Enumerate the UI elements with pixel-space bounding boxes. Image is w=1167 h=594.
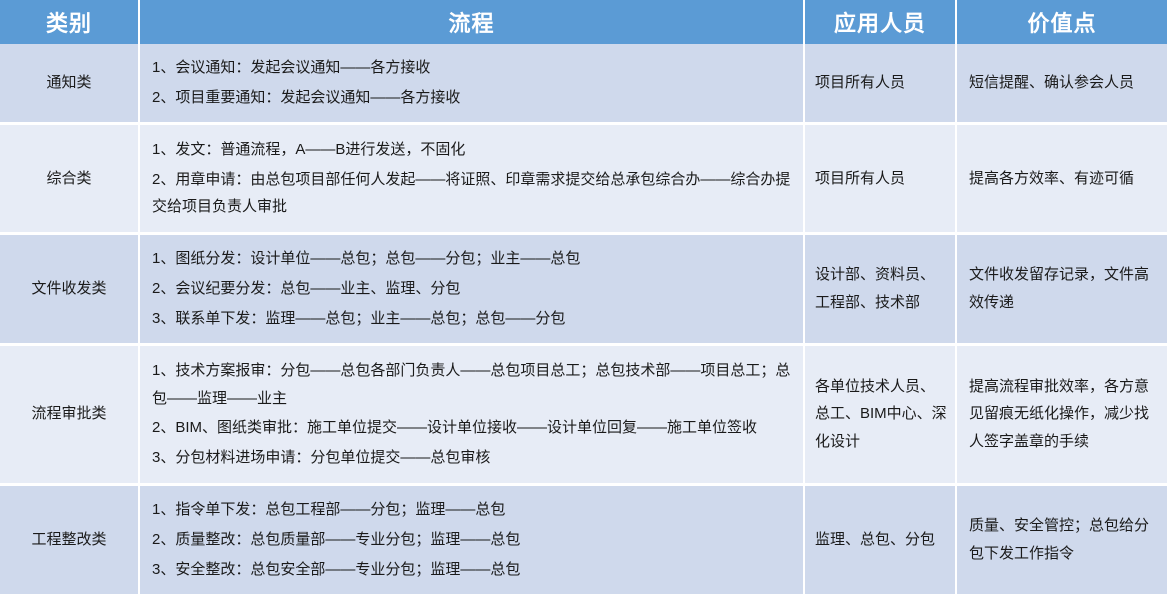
process-step: 1、会议通知：发起会议通知——各方接收 (152, 54, 791, 82)
column-header-category: 类别 (0, 0, 140, 44)
cell-category: 综合类 (0, 125, 140, 234)
table-row: 文件收发类1、图纸分发：设计单位——总包；总包——分包；业主——总包2、会议纪要… (0, 235, 1167, 346)
process-step: 1、指令单下发：总包工程部——分包；监理——总包 (152, 496, 791, 524)
process-step: 2、用章申请：由总包项目部任何人发起——将证照、印章需求提交给总承包综合办——综… (152, 166, 791, 222)
table-body: 通知类1、会议通知：发起会议通知——各方接收2、项目重要通知：发起会议通知——各… (0, 44, 1167, 594)
cell-process: 1、技术方案报审：分包——总包各部门负责人——总包项目总工；总包技术部——项目总… (140, 346, 805, 485)
process-step: 1、图纸分发：设计单位——总包；总包——分包；业主——总包 (152, 245, 791, 273)
cell-value: 文件收发留存记录，文件高效传递 (957, 235, 1167, 346)
cell-value: 提高流程审批效率，各方意见留痕无纸化操作，减少找人签字盖章的手续 (957, 346, 1167, 485)
cell-people: 各单位技术人员、总工、BIM中心、深化设计 (805, 346, 957, 485)
cell-category: 工程整改类 (0, 486, 140, 594)
process-step: 2、会议纪要分发：总包——业主、监理、分包 (152, 275, 791, 303)
cell-value: 短信提醒、确认参会人员 (957, 44, 1167, 125)
cell-process: 1、指令单下发：总包工程部——分包；监理——总包2、质量整改：总包质量部——专业… (140, 486, 805, 594)
cell-people: 项目所有人员 (805, 44, 957, 125)
cell-category: 文件收发类 (0, 235, 140, 346)
header-row: 类别 流程 应用人员 价值点 (0, 0, 1167, 44)
table-header: 类别 流程 应用人员 价值点 (0, 0, 1167, 44)
process-step: 3、安全整改：总包安全部——专业分包；监理——总包 (152, 556, 791, 584)
table-row: 通知类1、会议通知：发起会议通知——各方接收2、项目重要通知：发起会议通知——各… (0, 44, 1167, 125)
cell-people: 监理、总包、分包 (805, 486, 957, 594)
cell-value: 提高各方效率、有迹可循 (957, 125, 1167, 234)
column-header-value: 价值点 (957, 0, 1167, 44)
process-step: 3、联系单下发：监理——总包；业主——总包；总包——分包 (152, 305, 791, 333)
table-row: 工程整改类1、指令单下发：总包工程部——分包；监理——总包2、质量整改：总包质量… (0, 486, 1167, 594)
cell-process: 1、会议通知：发起会议通知——各方接收2、项目重要通知：发起会议通知——各方接收 (140, 44, 805, 125)
cell-category: 流程审批类 (0, 346, 140, 485)
process-matrix-container: 类别 流程 应用人员 价值点 通知类1、会议通知：发起会议通知——各方接收2、项… (0, 0, 1167, 594)
process-step: 3、分包材料进场申请：分包单位提交——总包审核 (152, 444, 791, 472)
column-header-process: 流程 (140, 0, 805, 44)
cell-people: 项目所有人员 (805, 125, 957, 234)
process-matrix-table: 类别 流程 应用人员 价值点 通知类1、会议通知：发起会议通知——各方接收2、项… (0, 0, 1167, 594)
cell-people: 设计部、资料员、工程部、技术部 (805, 235, 957, 346)
cell-process: 1、发文：普通流程，A——B进行发送，不固化2、用章申请：由总包项目部任何人发起… (140, 125, 805, 234)
table-row: 流程审批类1、技术方案报审：分包——总包各部门负责人——总包项目总工；总包技术部… (0, 346, 1167, 485)
cell-value: 质量、安全管控；总包给分包下发工作指令 (957, 486, 1167, 594)
process-step: 2、项目重要通知：发起会议通知——各方接收 (152, 84, 791, 112)
cell-process: 1、图纸分发：设计单位——总包；总包——分包；业主——总包2、会议纪要分发：总包… (140, 235, 805, 346)
process-step: 1、技术方案报审：分包——总包各部门负责人——总包项目总工；总包技术部——项目总… (152, 357, 791, 413)
cell-category: 通知类 (0, 44, 140, 125)
process-step: 2、BIM、图纸类审批：施工单位提交——设计单位接收——设计单位回复——施工单位… (152, 414, 791, 442)
process-step: 1、发文：普通流程，A——B进行发送，不固化 (152, 136, 791, 164)
process-step: 2、质量整改：总包质量部——专业分包；监理——总包 (152, 526, 791, 554)
table-row: 综合类1、发文：普通流程，A——B进行发送，不固化2、用章申请：由总包项目部任何… (0, 125, 1167, 234)
column-header-people: 应用人员 (805, 0, 957, 44)
